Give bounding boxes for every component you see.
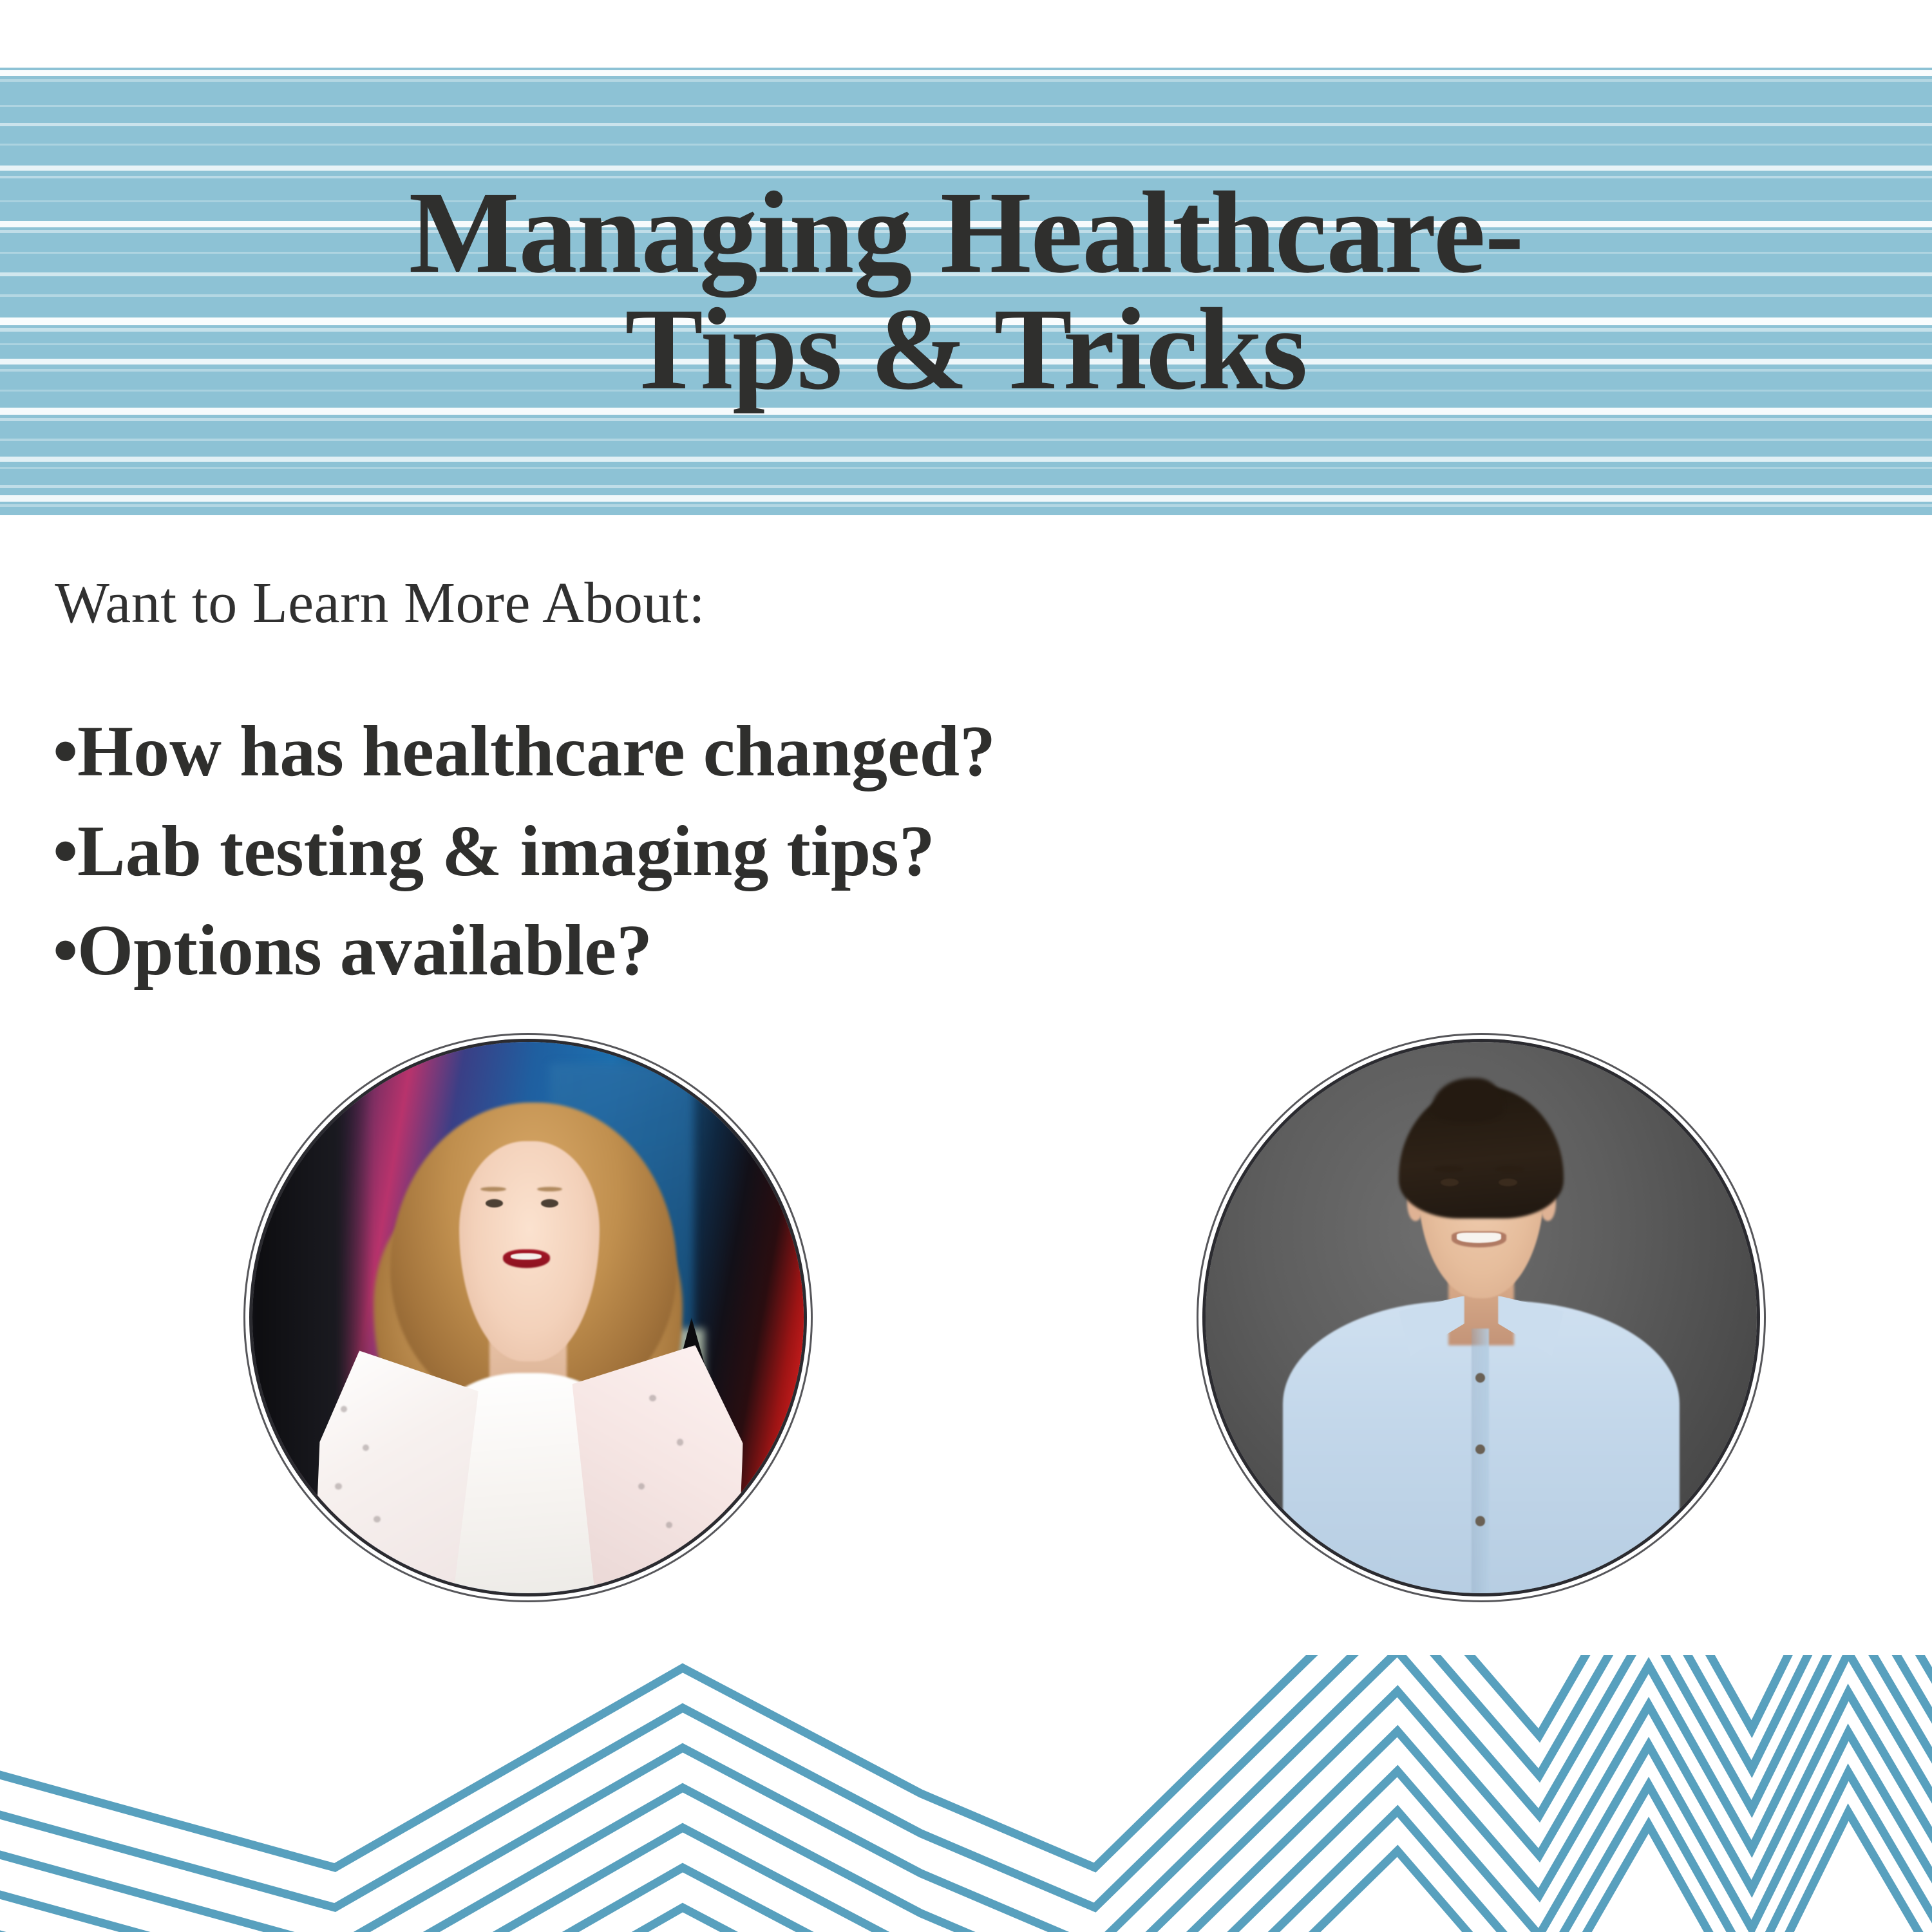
slide-title: Managing Healthcare- Tips & Tricks xyxy=(0,68,1932,515)
photo-left-lace-detail xyxy=(649,1395,656,1401)
presenter-photo-left xyxy=(252,1042,804,1593)
chevron-zigzag-decoration xyxy=(0,1655,1932,1932)
photo-right-button xyxy=(1475,1373,1485,1383)
bullet-text: How has healthcare changed? xyxy=(77,702,996,802)
photo-right-placket xyxy=(1472,1329,1489,1593)
bullet-dot-icon: • xyxy=(53,802,77,902)
chevron-line xyxy=(0,1655,1932,1908)
photo-right-brow-left xyxy=(1435,1166,1463,1172)
list-item: • Lab testing & imaging tips? xyxy=(53,802,996,902)
chevron-line xyxy=(0,1812,1932,1932)
title-line-1: Managing Healthcare- xyxy=(409,175,1524,291)
bullet-text: Lab testing & imaging tips? xyxy=(77,802,935,902)
list-item: • Options available? xyxy=(53,901,996,1001)
photo-left-lace-detail xyxy=(335,1483,341,1490)
topic-bullet-list: • How has healthcare changed? • Lab test… xyxy=(53,702,996,1001)
bullet-dot-icon: • xyxy=(53,901,77,1001)
photo-right-button xyxy=(1475,1516,1485,1526)
photo-left-lace-detail xyxy=(677,1439,683,1445)
title-line-2: Tips & Tricks xyxy=(625,292,1307,408)
photo-right-teeth xyxy=(1457,1233,1501,1242)
photo-left-content xyxy=(252,1042,804,1593)
lead-in-text: Want to Learn More About: xyxy=(55,570,705,636)
list-item: • How has healthcare changed? xyxy=(53,702,996,802)
photo-left-lace-detail xyxy=(374,1516,380,1522)
photo-right-brow-right xyxy=(1495,1166,1523,1172)
photo-left-teeth xyxy=(511,1253,542,1260)
presenter-photo-right xyxy=(1206,1042,1757,1593)
photo-left-eye-left xyxy=(486,1199,503,1207)
header-banner: Managing Healthcare- Tips & Tricks xyxy=(0,68,1932,515)
chevron-svg xyxy=(0,1655,1932,1932)
bullet-dot-icon: • xyxy=(53,702,77,802)
photo-left-eye-right xyxy=(541,1199,558,1207)
photo-right-content xyxy=(1206,1042,1757,1593)
bullet-text: Options available? xyxy=(77,901,652,1001)
